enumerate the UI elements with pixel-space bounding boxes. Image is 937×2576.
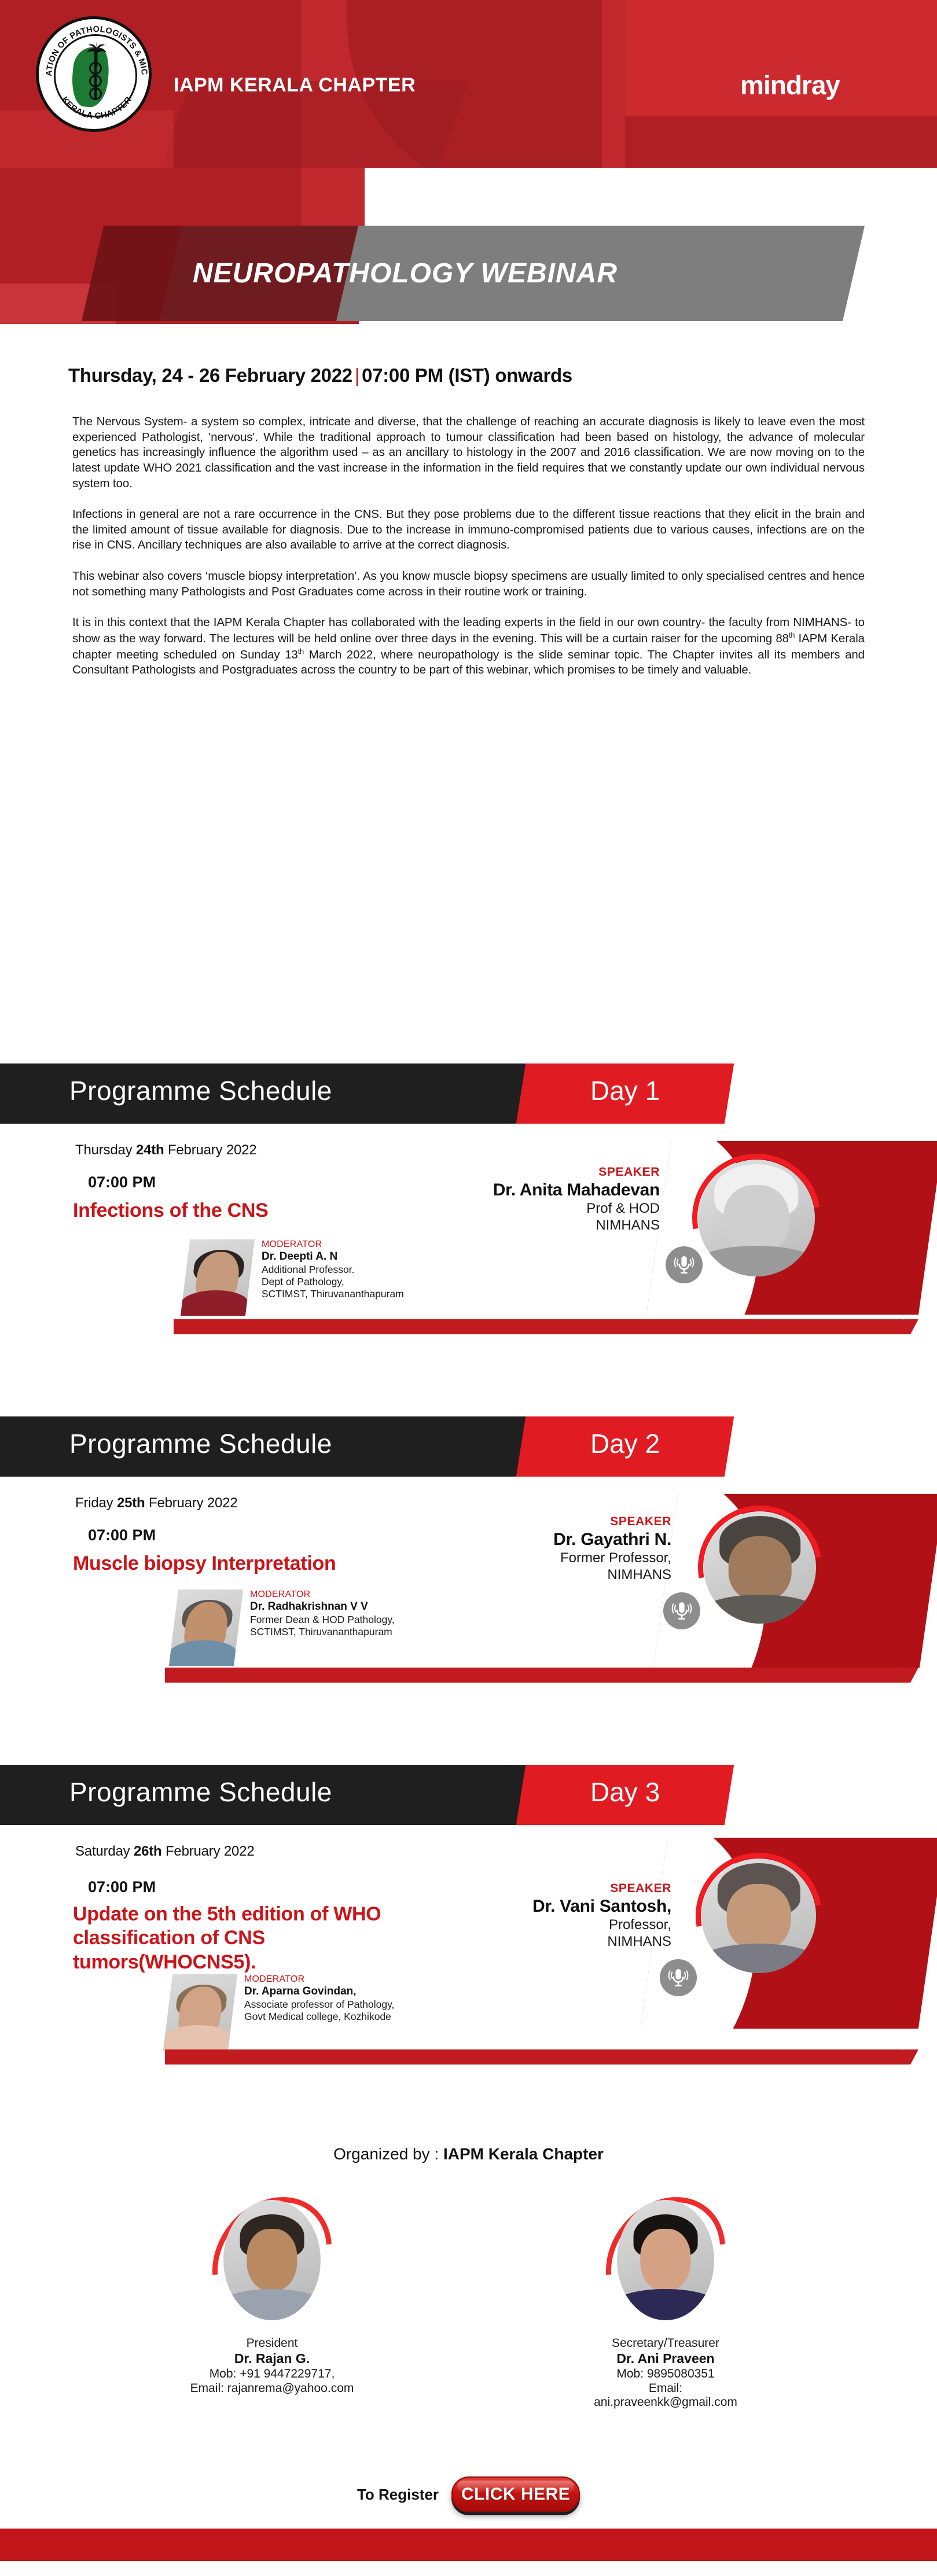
day-date-suffix-3: February 2022 [162,1843,255,1859]
day-number-day2: Day 2 [590,1428,660,1459]
speaker-label-day2: SPEAKER [405,1515,671,1529]
moderator-info-day3: MODERATOR Dr. Aparna Govindan, Associate… [244,1974,394,2023]
intro-paragraph-3: This webinar also covers ‘muscle biopsy … [72,569,865,599]
sponsor-logo-mindray: mindray [740,69,840,101]
svg-text:INDIAN ASSOCIATION OF PATHOLOG: INDIAN ASSOCIATION OF PATHOLOGISTS & MIC… [39,19,149,76]
microphone-icon-day2 [663,1592,700,1629]
organization-title: IAPM KERALA CHAPTER [174,74,416,97]
day-section-2: Programme Schedule Day 2 SPEAKER Dr. Gay… [0,1416,937,1702]
moderator-photo-day2 [169,1589,243,1666]
speaker-photo-day3 [701,1859,816,1973]
secretary-mobile: Mob: 9895080351 [579,2367,752,2381]
secretary-email: Email: ani.praveenkk@gmail.com [579,2382,752,2409]
day-section-1: Programme Schedule Day 1 SPEAKER Dr. Ani… [0,1063,937,1349]
secretary-photo [617,2200,714,2320]
schedule-bar-day2: Programme Schedule Day 2 [0,1416,937,1477]
intro-p4-sup2: th [298,647,304,656]
moderator-affiliation-day1: Additional Professor. Dept of Pathology,… [262,1264,404,1300]
moderator-affiliation-day3: Associate professor of Pathology, Govt M… [244,1999,394,2023]
register-row: To Register CLICK HERE [0,2476,937,2512]
secretary-details: Secretary/Treasurer Dr. Ani Praveen Mob:… [579,2336,752,2409]
day-topic-2: Muscle biopsy Interpretation [73,1552,336,1576]
president-mobile: Mob: +91 9447229717, [185,2367,359,2381]
president-role: President [185,2336,359,2350]
speaker-photo-day2 [704,1511,816,1624]
day-date-bold-2: 25th [117,1495,145,1511]
day-body-2: SPEAKER Dr. Gayathri N. Former Professor… [0,1477,937,1702]
speaker-name-day2: Dr. Gayathri N. [405,1530,671,1550]
moderator-name-day1: Dr. Deepti A. N [262,1250,404,1263]
speaker-shoulders-day3 [701,1944,816,1973]
day-number-day1: Day 1 [590,1075,660,1106]
day-date-prefix-2: Friday [75,1495,117,1511]
speaker-affiliation-day2: Former Professor, NIMHANS [405,1550,671,1584]
logo-ring-bottom-label: KERALA CHAPTER [60,95,134,121]
day-body-3: SPEAKER Dr. Vani Santosh, Professor, NIM… [0,1825,937,2080]
day-underline-3 [165,2049,903,2065]
speaker-photo-day1 [698,1160,815,1276]
schedule-label-day3: Programme Schedule [69,1776,332,1808]
page-header: INDIAN ASSOCIATION OF PATHOLOGISTS & MIC… [0,0,937,168]
moderator-info-day2: MODERATOR Dr. Radhakrishnan V V Former D… [250,1589,395,1638]
secretary-name: Dr. Ani Praveen [579,2351,752,2367]
moderator-body-day1 [181,1290,249,1316]
logo-ring-top-label: INDIAN ASSOCIATION OF PATHOLOGISTS & MIC… [39,19,149,76]
speaker-affiliation-day3: Professor, NIMHANS [405,1917,671,1951]
schedule-label-day1: Programme Schedule [69,1075,332,1106]
webinar-title-banner: NEUROPATHOLOGY WEBINAR [0,168,937,324]
president-photo [223,2200,321,2320]
day-underline-1 [174,1319,903,1334]
date-separator: | [352,365,362,386]
day-date-suffix-1: February 2022 [164,1142,256,1158]
day-date-bold-3: 26th [134,1843,162,1859]
intro-p4-sup1: th [789,631,795,639]
day-date-2: Friday 25th February 2022 [75,1495,237,1511]
footer-bar [0,2529,937,2561]
intro-p4-part1: It is in this context that the IAPM Kera… [72,616,865,645]
speaker-label-day1: SPEAKER [370,1165,660,1179]
speaker-affiliation-day1: Prof & HOD NIMHANS [370,1201,660,1234]
click-here-button[interactable]: CLICK HERE [451,2476,580,2512]
president-shoulders [223,2289,321,2320]
day-date-3: Saturday 26th February 2022 [75,1843,254,1860]
speaker-name-day1: Dr. Anita Mahadevan [370,1180,660,1200]
moderator-body-day3 [163,2025,232,2051]
secretary-face [640,2229,690,2291]
day-date-prefix-3: Saturday [75,1843,134,1859]
moderator-affiliation-day2: Former Dean & HOD Pathology, SCTIMST, Th… [250,1614,395,1638]
intro-paragraph-2: Infections in general are not a rare occ… [72,507,865,553]
speaker-name-day3: Dr. Vani Santosh, [405,1897,671,1916]
day-topic-1: Infections of the CNS [73,1199,269,1223]
event-date: Thursday, 24 - 26 February 2022 [68,365,352,386]
svg-text:KERALA CHAPTER: KERALA CHAPTER [60,95,134,121]
speaker-label-day3: SPEAKER [405,1882,671,1896]
speaker-face-day3 [727,1884,791,1951]
microphone-icon-day3 [660,1959,697,1996]
moderator-label-day1: MODERATOR [262,1239,404,1250]
moderator-name-day3: Dr. Aparna Govindan, [244,1985,394,1998]
logo-ring-text: INDIAN ASSOCIATION OF PATHOLOGISTS & MIC… [39,19,155,135]
president-details: President Dr. Rajan G. Mob: +91 94472297… [185,2336,359,2395]
day-body-1: SPEAKER Dr. Anita Mahadevan Prof & HOD N… [0,1124,937,1349]
speaker-face-day2 [729,1536,792,1602]
president-email: Email: rajanrema@yahoo.com [185,2382,359,2395]
event-datetime: Thursday, 24 - 26 February 2022|07:00 PM… [68,365,937,387]
intro-paragraph-4: It is in this context that the IAPM Kera… [72,615,865,678]
day-date-bold-1: 24th [136,1142,164,1158]
day-date-suffix-2: February 2022 [145,1495,238,1511]
speaker-info-day2: SPEAKER Dr. Gayathri N. Former Professor… [405,1515,671,1584]
moderator-name-day2: Dr. Radhakrishnan V V [250,1600,395,1613]
day-date-prefix-1: Thursday [75,1142,136,1158]
president-face [247,2229,297,2291]
moderator-body-day2 [169,1640,238,1666]
president-name: Dr. Rajan G. [185,2351,359,2367]
moderator-label-day2: MODERATOR [250,1589,395,1600]
speaker-info-day1: SPEAKER Dr. Anita Mahadevan Prof & HOD N… [370,1165,660,1234]
day-time-3: 07:00 PM [88,1878,156,1896]
moderator-info-day1: MODERATOR Dr. Deepti A. N Additional Pro… [262,1239,404,1300]
day-section-3: Programme Schedule Day 3 SPEAKER Dr. Van… [0,1765,937,2080]
iapm-logo: INDIAN ASSOCIATION OF PATHOLOGISTS & MIC… [36,16,152,132]
event-time: 07:00 PM (IST) onwards [362,365,572,386]
day-topic-3: Update on the 5th edition of WHO classif… [73,1902,420,1974]
schedule-bar-day3: Programme Schedule Day 3 [0,1765,937,1825]
speaker-shoulders-day2 [704,1595,816,1624]
schedule-bar-day1: Programme Schedule Day 1 [0,1063,937,1124]
schedule-label-day2: Programme Schedule [69,1428,332,1459]
secretary-role: Secretary/Treasurer [579,2336,752,2350]
register-label: To Register [357,2486,439,2504]
page-title: NEUROPATHOLOGY WEBINAR [0,226,810,321]
organized-by-line: Organized by : IAPM Kerala Chapter [0,2145,937,2163]
intro-content: Thursday, 24 - 26 February 2022|07:00 PM… [0,324,937,678]
speaker-face-day1 [723,1185,789,1253]
microphone-icon-day1 [666,1246,703,1283]
secretary-shoulders [617,2289,714,2320]
moderator-photo-day3 [163,1974,237,2051]
day-number-day3: Day 3 [590,1776,660,1808]
moderator-photo-day1 [181,1239,255,1316]
moderator-label-day3: MODERATOR [244,1974,394,1985]
intro-paragraph-1: The Nervous System- a system so complex,… [72,414,865,491]
organized-by-prefix: Organized by : [333,2145,443,2163]
day-time-2: 07:00 PM [88,1526,156,1544]
organized-by-name: IAPM Kerala Chapter [443,2145,604,2163]
day-underline-2 [165,1668,903,1683]
speaker-info-day3: SPEAKER Dr. Vani Santosh, Professor, NIM… [405,1882,671,1951]
day-date-1: Thursday 24th February 2022 [75,1142,256,1158]
day-time-1: 07:00 PM [88,1173,156,1191]
speaker-shoulders-day1 [698,1246,815,1276]
